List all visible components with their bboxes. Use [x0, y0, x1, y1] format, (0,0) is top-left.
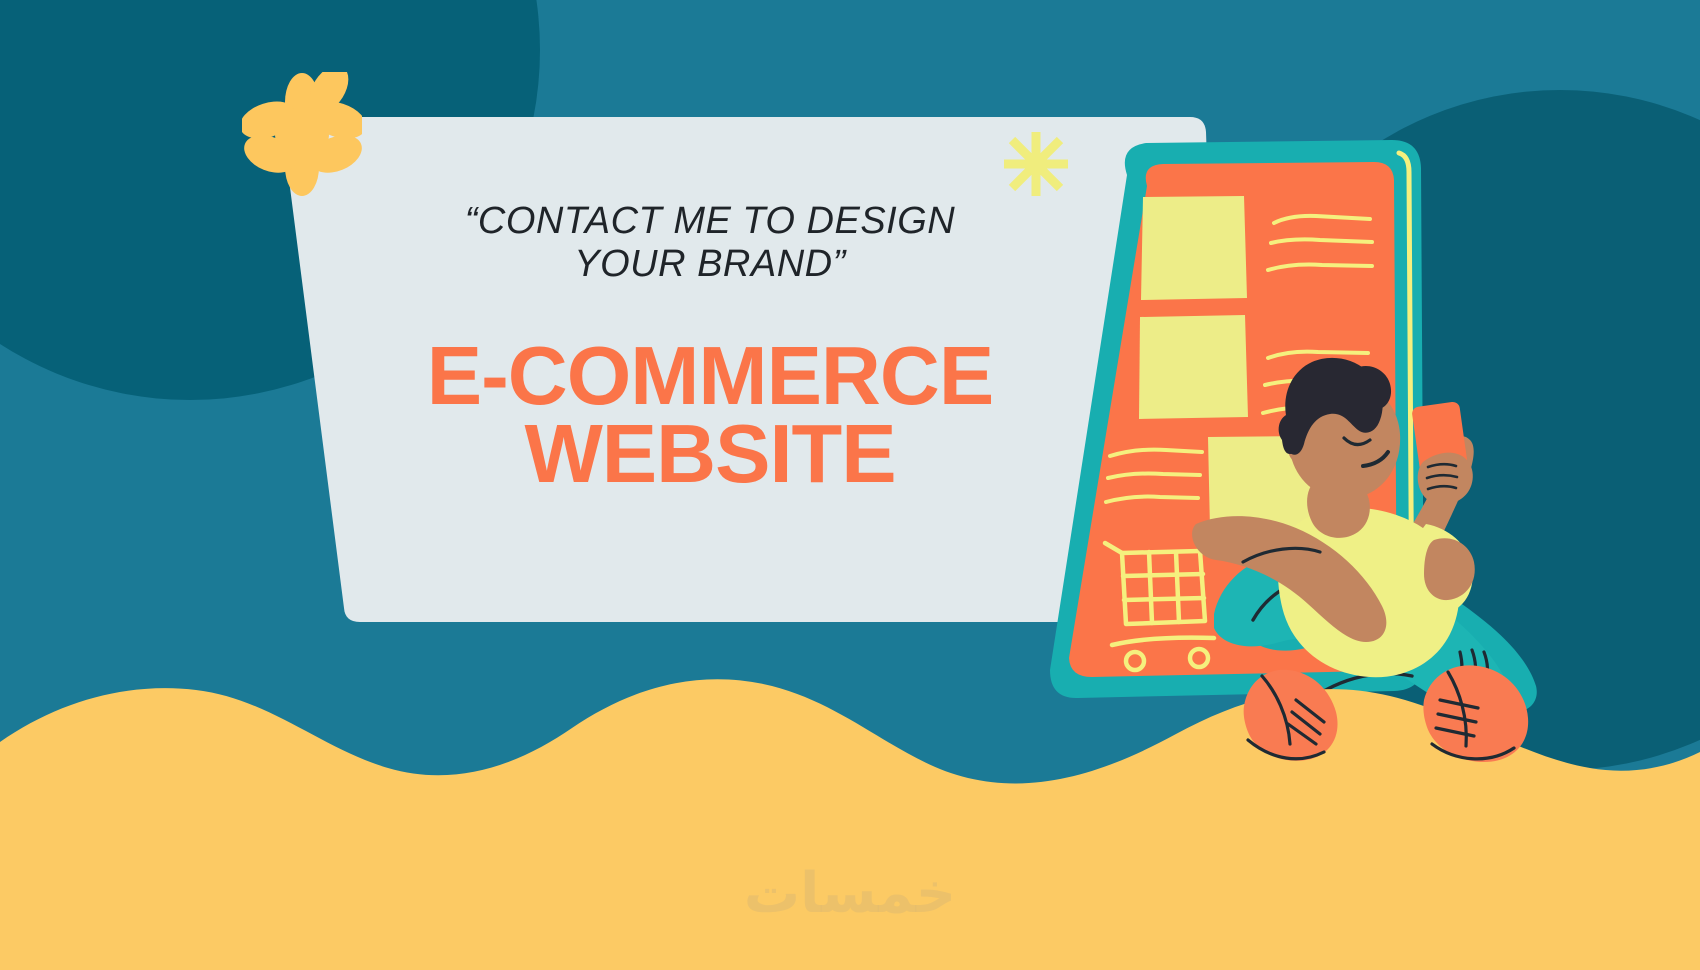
sneaker-left	[1244, 670, 1338, 761]
sneaker-right	[1423, 665, 1528, 762]
sneaker-layer	[0, 0, 1700, 970]
poster-canvas: “CONTACT ME TO DESIGN YOUR BRAND” E-COMM…	[0, 0, 1700, 970]
